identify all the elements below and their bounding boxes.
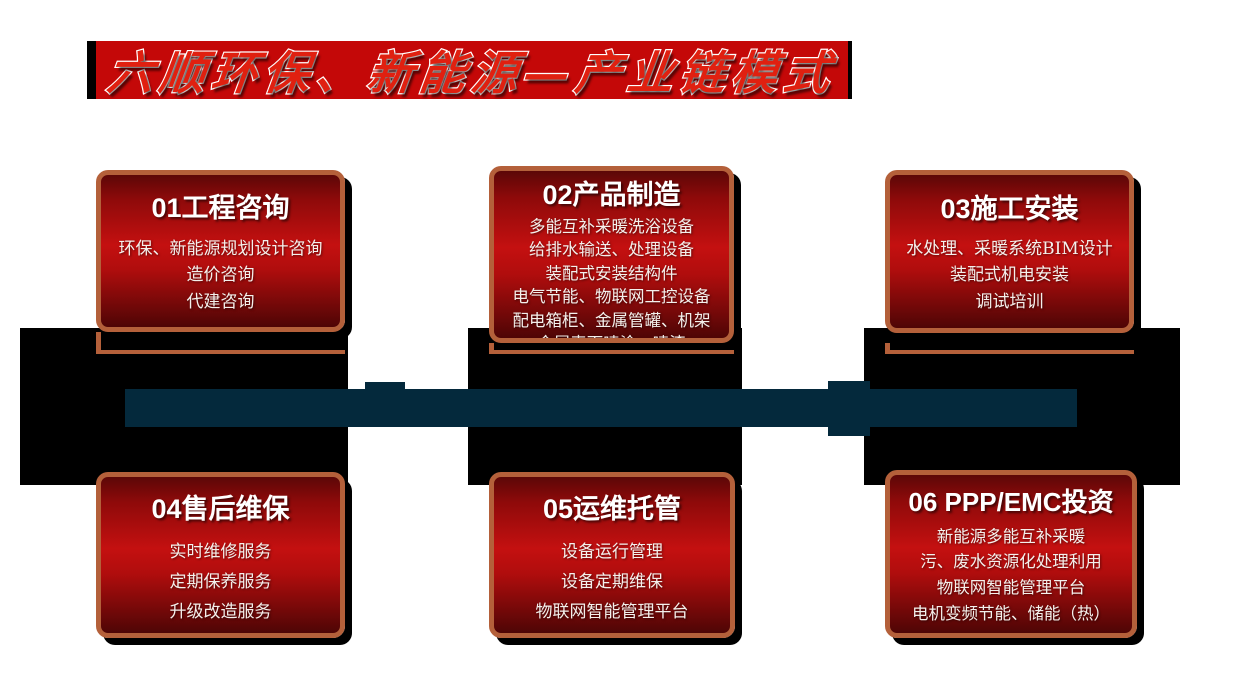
card-06-title: 06 PPP/EMC投资 — [908, 488, 1113, 518]
card-04-line-2: 定期保养服务 — [170, 568, 272, 598]
card-02-line-5: 配电箱柜、金属管罐、机架 — [513, 309, 711, 332]
page-title: 六顺环保、新能源—产业链模式 — [92, 41, 851, 99]
card-02-lines: 多能互补采暖洗浴设备 给排水输送、处理设备 装配式安装结构件 电气节能、物联网工… — [494, 215, 729, 343]
connector-line-card-01 — [96, 350, 345, 354]
band-gutter-left — [0, 328, 20, 485]
card-01-line-2: 造价咨询 — [187, 262, 255, 288]
card-02-title: 02产品制造 — [542, 180, 680, 211]
card-01-engineering-consulting[interactable]: 01工程咨询 环保、新能源规划设计咨询 造价咨询 代建咨询 — [96, 170, 345, 332]
card-01-line-3: 代建咨询 — [187, 289, 255, 315]
card-04-title: 04售后维保 — [151, 494, 289, 525]
card-02-line-1: 多能互补采暖洗浴设备 — [529, 215, 694, 238]
card-05-line-1: 设备运行管理 — [561, 538, 663, 568]
card-01-lines: 环保、新能源规划设计咨询 造价咨询 代建咨询 — [101, 236, 340, 315]
card-04-line-3: 升级改造服务 — [170, 598, 272, 628]
card-05-title: 05运维托管 — [543, 494, 681, 525]
card-05-operation-maintenance-hosting[interactable]: 05运维托管 设备运行管理 设备定期维保 物联网智能管理平台 — [489, 472, 735, 638]
process-flow-bar — [125, 389, 1077, 427]
card-01-title: 01工程咨询 — [151, 193, 289, 224]
title-banner: 六顺环保、新能源—产业链模式 — [96, 41, 848, 99]
card-05-line-3: 物联网智能管理平台 — [536, 598, 689, 628]
card-03-line-3: 调试培训 — [976, 289, 1044, 315]
card-06-line-2: 污、废水资源化处理利用 — [920, 549, 1102, 575]
card-02-line-3: 装配式安装结构件 — [546, 262, 678, 285]
card-03-construction-installation[interactable]: 03施工安装 水处理、采暖系统BIM设计 装配式机电安装 调试培训 — [885, 170, 1134, 333]
card-06-lines: 新能源多能互补采暖 污、废水资源化处理利用 物联网智能管理平台 电机变频节能、储… — [890, 524, 1132, 626]
card-06-line-3: 物联网智能管理平台 — [937, 575, 1086, 601]
process-bar-tab-right-bottom — [828, 427, 870, 436]
card-04-lines: 实时维修服务 定期保养服务 升级改造服务 — [101, 538, 340, 627]
card-06-line-1: 新能源多能互补采暖 — [937, 524, 1086, 550]
band-gutter-right — [1180, 328, 1240, 485]
card-04-line-1: 实时维修服务 — [170, 538, 272, 568]
card-02-line-6: 金属表面喷涂、喷漆 — [537, 332, 686, 343]
card-02-product-manufacturing[interactable]: 02产品制造 多能互补采暖洗浴设备 给排水输送、处理设备 装配式安装结构件 电气… — [489, 166, 734, 343]
card-01-line-1: 环保、新能源规划设计咨询 — [119, 236, 323, 262]
card-03-line-1: 水处理、采暖系统BIM设计 — [906, 236, 1113, 262]
card-05-line-2: 设备定期维保 — [561, 568, 663, 598]
card-02-line-2: 给排水输送、处理设备 — [529, 238, 694, 261]
connector-line-card-03 — [885, 350, 1134, 354]
card-06-ppp-emc-investment[interactable]: 06 PPP/EMC投资 新能源多能互补采暖 污、废水资源化处理利用 物联网智能… — [885, 470, 1137, 638]
card-03-line-2: 装配式机电安装 — [950, 262, 1069, 288]
card-02-line-4: 电气节能、物联网工控设备 — [513, 285, 711, 308]
card-04-after-sales-maintenance[interactable]: 04售后维保 实时维修服务 定期保养服务 升级改造服务 — [96, 472, 345, 638]
card-05-lines: 设备运行管理 设备定期维保 物联网智能管理平台 — [494, 538, 730, 627]
connector-line-card-02 — [489, 350, 734, 354]
card-03-lines: 水处理、采暖系统BIM设计 装配式机电安装 调试培训 — [890, 236, 1129, 315]
card-06-line-4: 电机变频节能、储能（热） — [912, 601, 1110, 627]
card-03-title: 03施工安装 — [940, 194, 1078, 225]
